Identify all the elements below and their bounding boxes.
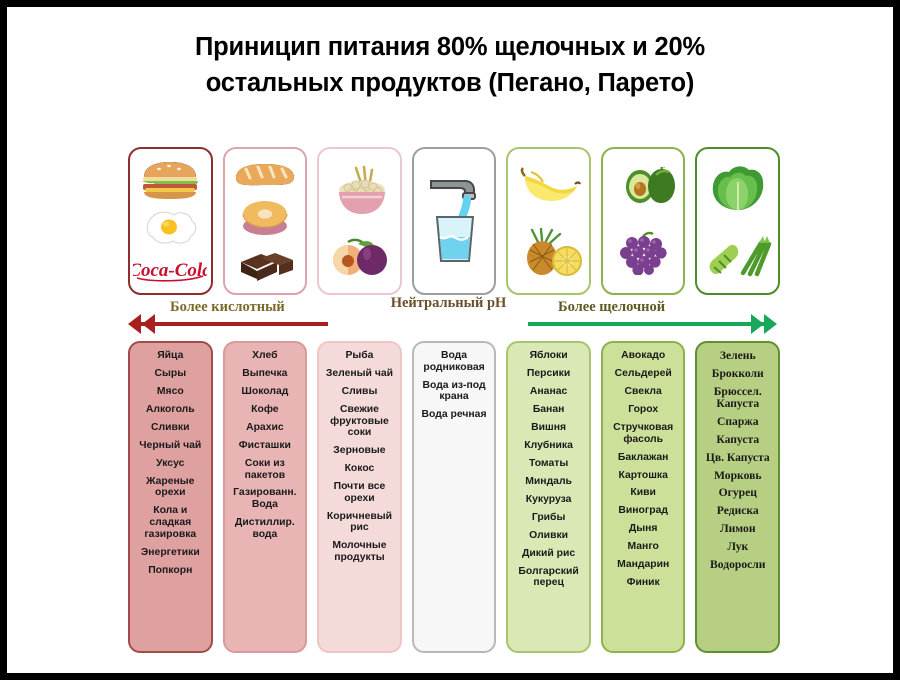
donut-icon (227, 199, 304, 237)
list-item: Мясо (133, 386, 208, 398)
list-item: Лук (700, 541, 775, 553)
list-item: Миндаль (511, 476, 586, 488)
list-item: Свежие фруктовые соки (322, 404, 397, 439)
list-item: Соки из пакетов (228, 458, 303, 481)
list-item: Молочные продукты (322, 540, 397, 563)
list-item: Мандарин (606, 559, 681, 571)
list-item: Брюссел. Капуста (700, 386, 775, 409)
list-item: Энергетики (133, 547, 208, 559)
list-item: Оливки (511, 530, 586, 542)
chocolate-bar-icon (227, 248, 304, 282)
list-item: Яблоки (511, 350, 586, 362)
hamburger-icon (132, 160, 209, 200)
list-item: Свекла (606, 386, 681, 398)
food-photo-card-slightly-alkaline (506, 147, 591, 295)
list-item: Редиска (700, 505, 775, 517)
coca-cola-logo-icon: Coca-Cola (132, 256, 209, 282)
alkaline-arrow-line (528, 322, 766, 326)
list-item: Шоколад (228, 386, 303, 398)
food-list-card-most-acidic: ЯйцаСырыМясоАлкогольСливкиЧерный чайУксу… (128, 341, 213, 653)
alkaline-arrow-head-outer-icon (764, 314, 777, 334)
list-item: Сельдерей (606, 368, 681, 380)
list-item: Сливы (322, 386, 397, 398)
list-item: Авокадо (606, 350, 681, 362)
food-list-card-alkaline: АвокадоСельдерейСвеклаГорохСтручковая фа… (601, 341, 686, 653)
list-item: Кукуруза (511, 494, 586, 506)
list-item: Вода из-под крана (417, 380, 492, 403)
food-list-card-most-alkaline: ЗеленьБрокколиБрюссел. КапустаСпаржаКапу… (695, 341, 780, 653)
list-item: Коричневый рис (322, 511, 397, 534)
list-item: Почти все орехи (322, 481, 397, 504)
food-photo-card-neutral (412, 147, 497, 295)
list-item: Дыня (606, 523, 681, 535)
list-item: Кола и сладкая газировка (133, 505, 208, 540)
food-list-card-neutral: Вода родниковаяВода из-под кранаВода реч… (412, 341, 497, 653)
more-acidic-label: Более кислотный (170, 299, 285, 316)
food-photo-strip: Coca-Cola (128, 147, 780, 295)
food-photo-card-most-acidic: Coca-Cola (128, 147, 213, 295)
list-item: Выпечка (228, 368, 303, 380)
title-line-2: остальных продуктов (Пегано, Парето) (7, 65, 893, 101)
list-item: Кокос (322, 463, 397, 475)
list-item: Финик (606, 577, 681, 589)
leafy-greens-icon (699, 166, 776, 212)
list-item: Виноград (606, 505, 681, 517)
list-item: Водоросли (700, 559, 775, 571)
neutral-ph-label: Нейтральный рН (386, 295, 511, 312)
list-item: Киви (606, 487, 681, 499)
list-item: Вода речная (417, 409, 492, 421)
list-item: Газированн. Вода (228, 487, 303, 510)
page-title: Приницип питания 80% щелочных и 20% оста… (7, 29, 893, 101)
list-item: Капуста (700, 434, 775, 446)
acidic-arrow-head-inner-icon (142, 314, 155, 334)
list-item: Стручковая фасоль (606, 422, 681, 445)
food-photo-card-alkaline (601, 147, 686, 295)
infographic-poster: Приницип питания 80% щелочных и 20% оста… (0, 0, 900, 680)
list-item: Яйца (133, 350, 208, 362)
list-item: Дистиллир. вода (228, 517, 303, 540)
list-item: Спаржа (700, 416, 775, 428)
food-list-card-slightly-alkaline: ЯблокиПерсикиАнанасБананВишняКлубникаТом… (506, 341, 591, 653)
food-list-card-acidic: ХлебВыпечкаШоколадКофеАрахисФисташкиСоки… (223, 341, 308, 653)
list-item: Вода родниковая (417, 350, 492, 373)
list-item: Манго (606, 541, 681, 553)
list-item: Грибы (511, 512, 586, 524)
list-item: Кофе (228, 404, 303, 416)
list-item: Болгарский перец (511, 566, 586, 589)
list-item: Зерновые (322, 445, 397, 457)
avocado-icon (605, 167, 682, 205)
list-item: Уксус (133, 458, 208, 470)
more-alkaline-label: Более щелочной (558, 299, 665, 316)
list-item: Банан (511, 404, 586, 416)
list-item: Баклажан (606, 452, 681, 464)
list-item: Попкорн (133, 565, 208, 577)
list-item: Клубника (511, 440, 586, 452)
list-item: Хлеб (228, 350, 303, 362)
list-item: Сливки (133, 422, 208, 434)
list-item: Брокколи (700, 368, 775, 380)
list-item: Томаты (511, 458, 586, 470)
list-item: Алкоголь (133, 404, 208, 416)
list-item: Фисташки (228, 440, 303, 452)
list-item: Рыба (322, 350, 397, 362)
list-item: Сыры (133, 368, 208, 380)
alkaline-arrow-head-inner-icon (751, 314, 764, 334)
list-item: Вишня (511, 422, 586, 434)
fried-egg-icon (132, 211, 209, 245)
peach-plum-icon (321, 238, 398, 278)
list-item: Лимон (700, 523, 775, 535)
list-item: Жареные орехи (133, 476, 208, 499)
food-photo-card-most-alkaline (695, 147, 780, 295)
list-item: Дикий рис (511, 548, 586, 560)
list-item: Ананас (511, 386, 586, 398)
pineapple-icon (510, 228, 587, 276)
title-line-1: Приницип питания 80% щелочных и 20% (7, 29, 893, 65)
food-photo-card-slightly-acidic (317, 147, 402, 295)
acidic-arrow-head-outer-icon (128, 314, 141, 334)
baguette-icon (227, 160, 304, 188)
list-item: Зеленый чай (322, 368, 397, 380)
list-item: Картошка (606, 470, 681, 482)
cereal-bowl-icon (321, 164, 398, 218)
food-list-card-slightly-acidic: РыбаЗеленый чайСливыСвежие фруктовые сок… (317, 341, 402, 653)
grapes-icon (605, 231, 682, 275)
list-item: Огурец (700, 487, 775, 499)
list-item: Персики (511, 368, 586, 380)
list-item: Цв. Капуста (700, 452, 775, 464)
list-item: Горох (606, 404, 681, 416)
list-item: Арахис (228, 422, 303, 434)
list-item: Морковь (700, 470, 775, 482)
list-item: Черный чай (133, 440, 208, 452)
faucet-water-glass-icon (416, 175, 493, 267)
asparagus-icon (699, 235, 776, 277)
bananas-icon (510, 166, 587, 204)
ph-scale-band: Более кислотный Нейтральный рН Более щел… (128, 297, 780, 339)
acidic-arrow-line (138, 322, 328, 326)
food-photo-card-acidic (223, 147, 308, 295)
list-item: Зелень (700, 350, 775, 362)
food-list-strip: ЯйцаСырыМясоАлкогольСливкиЧерный чайУксу… (128, 341, 780, 653)
